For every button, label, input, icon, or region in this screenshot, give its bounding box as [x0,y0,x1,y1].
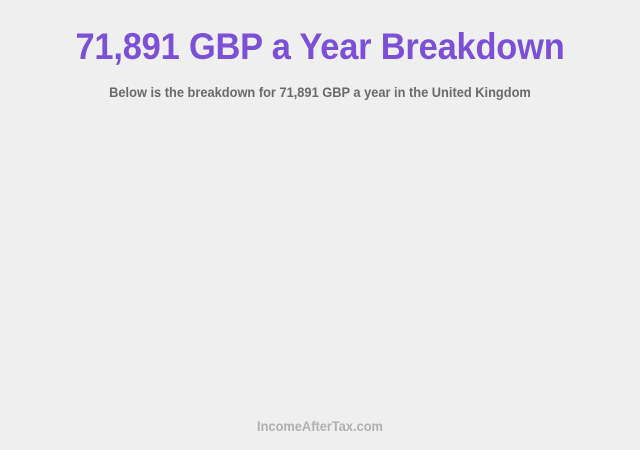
page-footer: IncomeAfterTax.com [0,419,640,435]
breakdown-content-area [0,112,640,412]
page-title: 71,891 GBP a Year Breakdown [22,26,617,68]
page-root: 71,891 GBP a Year Breakdown Below is the… [0,0,640,450]
site-credit-label: IncomeAfterTax.com [16,419,624,435]
page-subtitle: Below is the breakdown for 71,891 GBP a … [16,85,624,101]
